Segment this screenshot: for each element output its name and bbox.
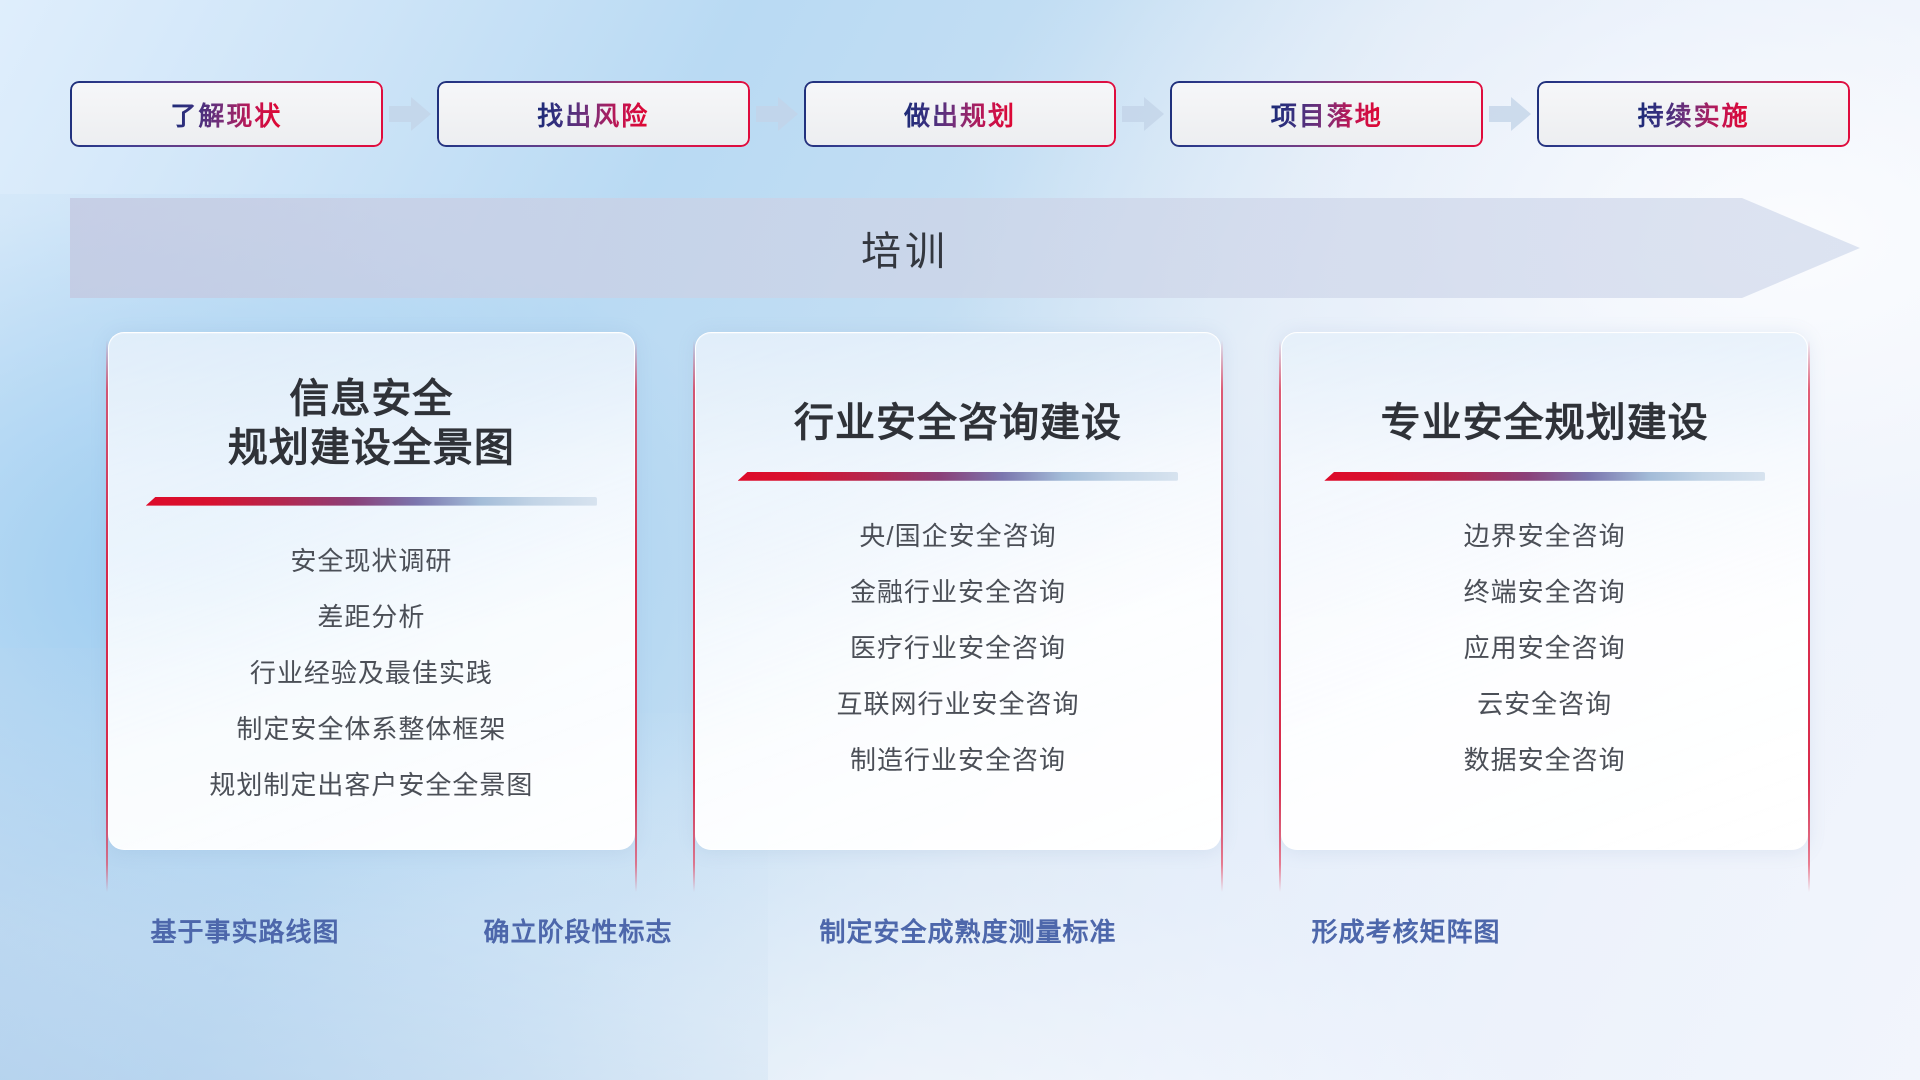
- card-list-item: 行业经验及最佳实践: [250, 648, 493, 698]
- process-step-label: 持续实施: [1638, 96, 1750, 133]
- card-slot-2: 行业安全咨询建设央/国企安全咨询金融行业安全咨询医疗行业安全咨询互联网行业安全咨…: [695, 332, 1222, 880]
- card-title: 专业安全规划建设: [1357, 399, 1733, 448]
- card-list-item: 终端安全咨询: [1464, 567, 1626, 617]
- process-step-3[interactable]: 做出规划: [804, 81, 1117, 147]
- card-list-item: 互联网行业安全咨询: [837, 679, 1080, 729]
- process-step-label: 做出规划: [904, 96, 1016, 133]
- footer-label-2: 确立阶段性标志: [483, 912, 672, 949]
- process-step-2[interactable]: 找出风险: [437, 81, 750, 147]
- process-step-label: 了解现状: [170, 96, 282, 133]
- card-list-item: 差距分析: [317, 592, 425, 642]
- card-item-list: 央/国企安全咨询金融行业安全咨询医疗行业安全咨询互联网行业安全咨询制造行业安全咨…: [696, 511, 1221, 785]
- training-banner: 培训: [70, 198, 1860, 298]
- card-list-item: 数据安全咨询: [1464, 735, 1626, 785]
- card-list-item: 云安全咨询: [1477, 679, 1612, 729]
- process-step-5[interactable]: 持续实施: [1537, 81, 1850, 147]
- process-step-strip: 了解现状找出风险做出规划项目落地持续实施: [70, 80, 1850, 148]
- process-step-label: 找出风险: [537, 96, 649, 133]
- service-card-1[interactable]: 信息安全 规划建设全景图安全现状调研差距分析行业经验及最佳实践制定安全体系整体框…: [108, 332, 635, 850]
- arrow-right-icon: [750, 91, 804, 137]
- card-list-item: 医疗行业安全咨询: [850, 623, 1066, 673]
- arrow-right-icon: [1116, 91, 1170, 137]
- card-divider: [146, 497, 597, 506]
- card-item-list: 边界安全咨询终端安全咨询应用安全咨询云安全咨询数据安全咨询: [1282, 511, 1807, 785]
- card-list-item: 央/国企安全咨询: [859, 511, 1056, 561]
- process-step-label: 项目落地: [1271, 96, 1383, 133]
- card-list-item: 规划制定出客户安全全景图: [209, 760, 533, 810]
- card-slot-1: 信息安全 规划建设全景图安全现状调研差距分析行业经验及最佳实践制定安全体系整体框…: [108, 332, 635, 880]
- card-list-item: 金融行业安全咨询: [850, 567, 1066, 617]
- service-card-2[interactable]: 行业安全咨询建设央/国企安全咨询金融行业安全咨询医疗行业安全咨询互联网行业安全咨…: [695, 332, 1222, 850]
- card-list-item: 安全现状调研: [290, 536, 452, 586]
- card-title: 信息安全 规划建设全景图: [204, 375, 539, 473]
- card-title: 行业安全咨询建设: [770, 399, 1146, 448]
- training-banner-label: 培训: [70, 198, 1740, 298]
- footer-label-4: 形成考核矩阵图: [1311, 912, 1500, 949]
- footer-labels: 基于事实路线图确立阶段性标志制定安全成熟度测量标准形成考核矩阵图: [0, 912, 1920, 956]
- card-list-item: 制造行业安全咨询: [850, 735, 1066, 785]
- process-step-1[interactable]: 了解现状: [70, 81, 383, 147]
- card-accent-rail-right: [1808, 340, 1810, 892]
- service-card-3[interactable]: 专业安全规划建设边界安全咨询终端安全咨询应用安全咨询云安全咨询数据安全咨询: [1281, 332, 1808, 850]
- card-divider: [1324, 472, 1765, 481]
- process-step-4[interactable]: 项目落地: [1170, 81, 1483, 147]
- card-list-item: 边界安全咨询: [1464, 511, 1626, 561]
- footer-label-3: 制定安全成熟度测量标准: [819, 912, 1116, 949]
- card-divider: [738, 472, 1179, 481]
- card-item-list: 安全现状调研差距分析行业经验及最佳实践制定安全体系整体框架规划制定出客户安全全景…: [109, 536, 634, 810]
- card-accent-rail-right: [1221, 340, 1223, 892]
- card-slot-3: 专业安全规划建设边界安全咨询终端安全咨询应用安全咨询云安全咨询数据安全咨询: [1281, 332, 1808, 880]
- footer-label-1: 基于事实路线图: [150, 912, 339, 949]
- card-list-item: 制定安全体系整体框架: [236, 704, 506, 754]
- cards-row: 信息安全 规划建设全景图安全现状调研差距分析行业经验及最佳实践制定安全体系整体框…: [108, 332, 1808, 880]
- card-list-item: 应用安全咨询: [1464, 623, 1626, 673]
- card-accent-rail-right: [635, 340, 637, 892]
- arrow-right-icon: [1483, 91, 1537, 137]
- arrow-right-icon: [383, 91, 437, 137]
